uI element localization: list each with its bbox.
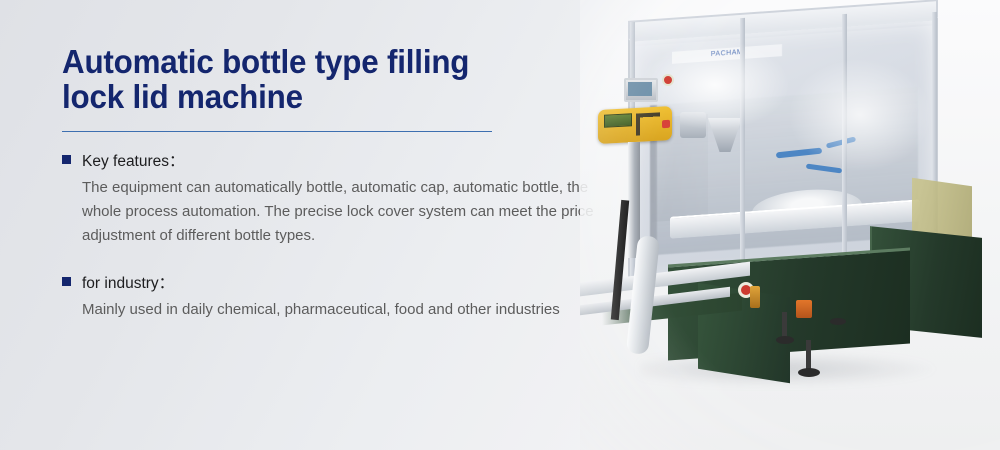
amber-indicator: [750, 286, 760, 308]
feature-block-key-features: Key features： The equipment can automati…: [62, 152, 602, 248]
hmi-screen-glass: [628, 82, 652, 96]
interior-light-glow: [790, 60, 930, 170]
keypad-buttons: [636, 112, 660, 135]
bullet-square-icon: [62, 277, 71, 286]
industry-body-text: Mainly used in daily chemical, pharmaceu…: [82, 298, 594, 322]
keypad-lcd-display: [604, 113, 632, 127]
feature-body-text: The equipment can automatically bottle, …: [82, 176, 594, 248]
copy-column: Automatic bottle type filling lock lid m…: [62, 44, 602, 322]
machine-photo: PACHAM: [580, 0, 1000, 450]
industry-heading-label: for industry：: [82, 274, 174, 293]
feature-heading-label: Key features：: [82, 152, 185, 171]
product-banner: Automatic bottle type filling lock lid m…: [0, 0, 1000, 450]
emergency-stop-button-icon: [662, 74, 674, 86]
bullet-square-icon: [62, 155, 71, 164]
feature-block-for-industry: for industry： Mainly used in daily chemi…: [62, 274, 602, 322]
machine-photo-canvas: PACHAM: [580, 0, 1000, 450]
title-divider: [62, 131, 492, 132]
leveling-foot: [798, 368, 820, 377]
industry-heading-row: for industry：: [62, 274, 602, 293]
leveling-foot: [776, 336, 794, 344]
page-title: Automatic bottle type filling lock lid m…: [62, 44, 575, 114]
power-socket: [796, 300, 812, 318]
leveling-foot: [830, 318, 846, 325]
feature-heading-row: Key features：: [62, 152, 602, 171]
keypad-indicator-light: [662, 120, 670, 128]
leveling-foot-rod: [782, 312, 787, 338]
leveling-foot-rod: [806, 340, 811, 370]
